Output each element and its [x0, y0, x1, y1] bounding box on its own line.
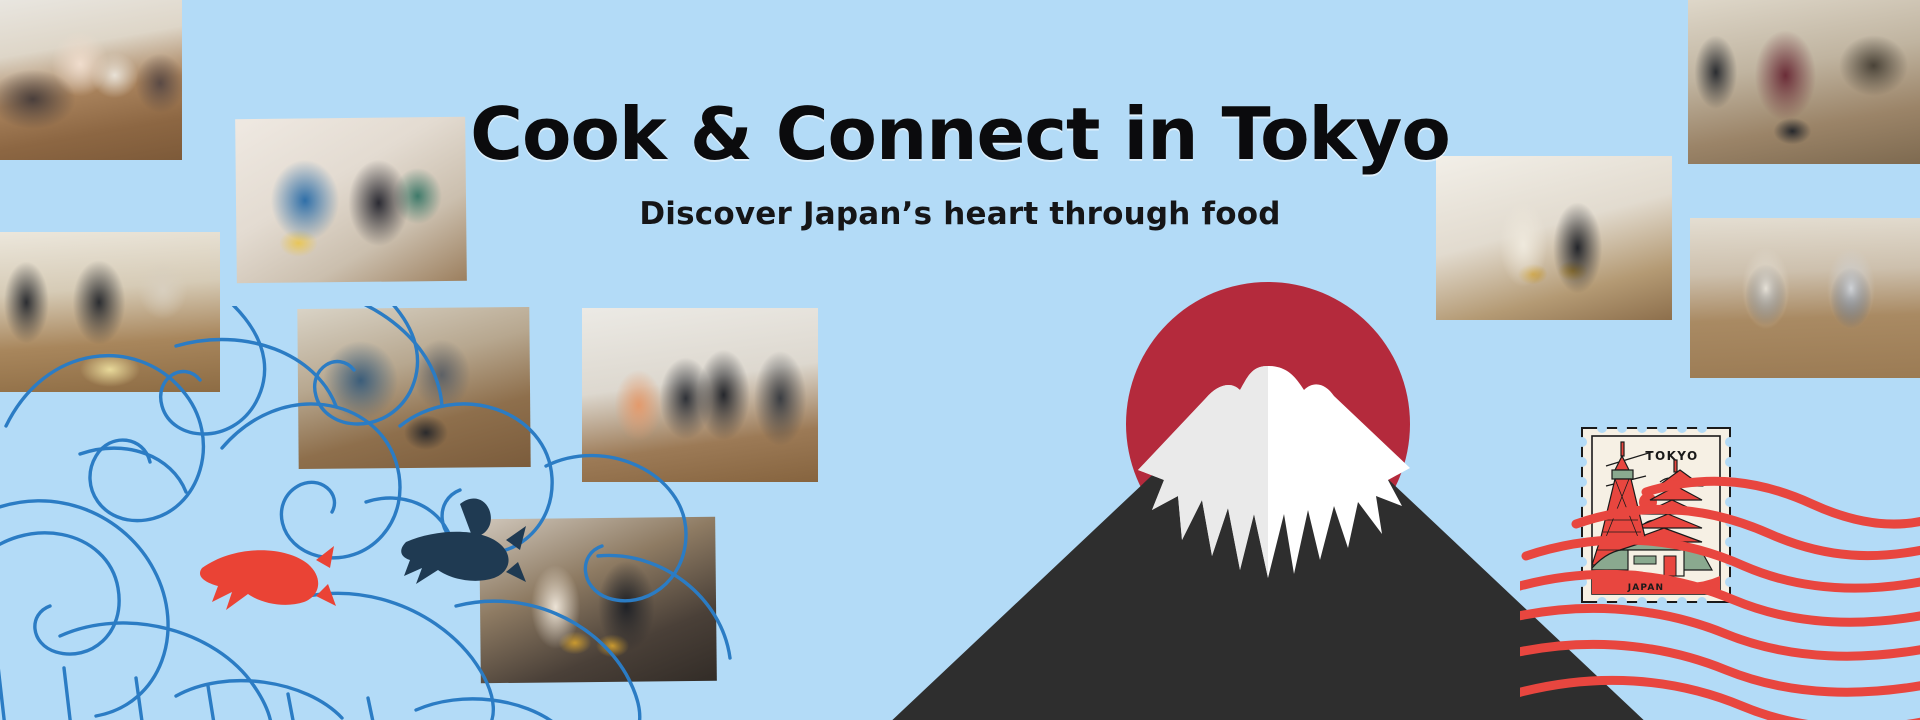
hero-text-block: Cook & Connect in Tokyo Discover Japan’s… — [0, 96, 1920, 232]
collage-photo — [297, 307, 530, 469]
stamp-perforated-edge — [1582, 428, 1730, 602]
page-subtitle: Discover Japan’s heart through food — [0, 196, 1920, 232]
stamp-bottom-label: JAPAN — [1627, 583, 1665, 593]
collage-photo — [582, 308, 818, 482]
hero-banner: TOKYO JAPAN Cook & Connect in Tokyo Disc… — [0, 0, 1920, 720]
page-title: Cook & Connect in Tokyo — [0, 96, 1920, 172]
tokyo-stamp-illustration: TOKYO JAPAN — [1576, 420, 1736, 610]
collage-photo — [0, 232, 220, 392]
koi-fish-red — [200, 546, 336, 610]
stamp-perforations — [1577, 423, 1735, 607]
stamp-top-label: TOKYO — [1645, 449, 1698, 463]
fuji-mountain-body — [890, 366, 1650, 720]
stamp-sun — [1639, 493, 1657, 511]
stamp-clouds — [1606, 452, 1696, 524]
stamp-ground — [1592, 570, 1720, 594]
fuji-snow-cap — [1138, 366, 1410, 578]
tokyo-tower — [1592, 442, 1654, 565]
temple-building — [1592, 538, 1712, 576]
pagoda — [1626, 460, 1702, 542]
postmark-waves-illustration — [1520, 470, 1920, 720]
stamp-inner-frame — [1592, 436, 1720, 594]
red-sun-circle — [1126, 282, 1410, 566]
tower-lattice — [1596, 479, 1648, 550]
collage-photo — [479, 517, 717, 683]
fuji-snow-shadow — [1138, 366, 1268, 578]
collage-photo — [1690, 218, 1920, 378]
